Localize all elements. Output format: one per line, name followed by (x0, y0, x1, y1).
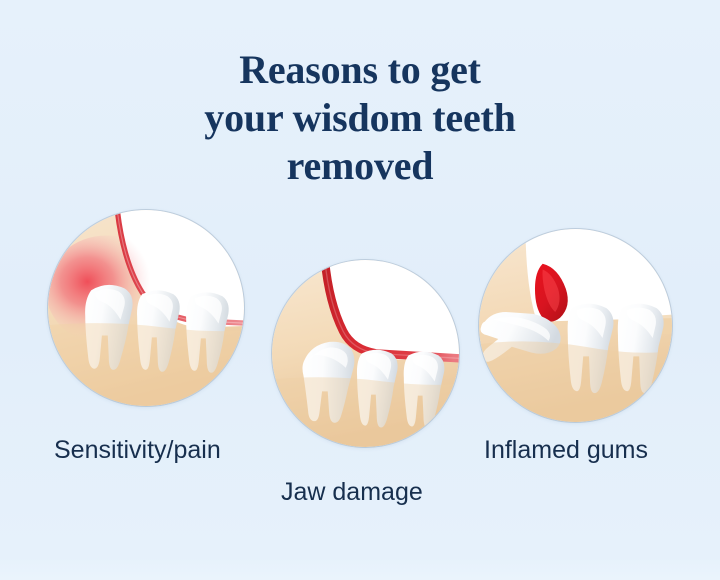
infographic-poster: Reasons to get your wisdom teeth removed (0, 0, 720, 580)
tooth-jaw-damage-illustration (272, 260, 459, 447)
tooth-sensitivity-illustration (48, 210, 244, 406)
caption-jaw-damage: Jaw damage (281, 478, 423, 507)
caption-sensitivity: Sensitivity/pain (54, 436, 221, 465)
caption-inflamed-gums: Inflamed gums (484, 436, 648, 465)
title-line-3: removed (0, 142, 720, 190)
title-line-1: Reasons to get (0, 46, 720, 94)
title-line-2: your wisdom teeth (0, 94, 720, 142)
page-title: Reasons to get your wisdom teeth removed (0, 46, 720, 190)
tooth-inflamed-gums-illustration (479, 229, 672, 422)
